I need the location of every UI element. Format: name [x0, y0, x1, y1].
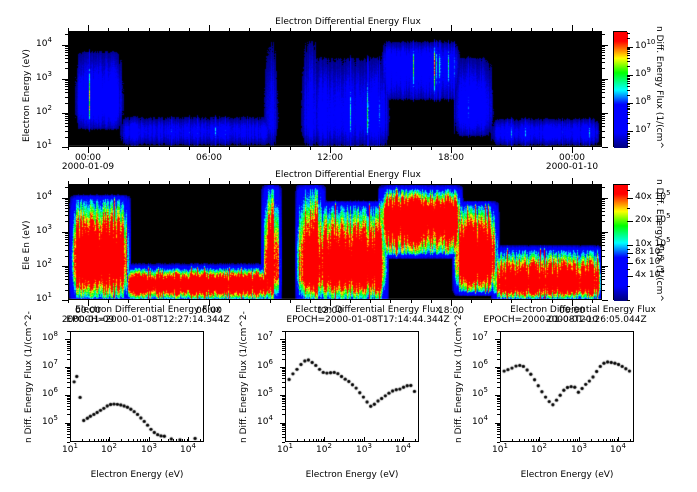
top-ytick-minor-r — [602, 46, 605, 47]
s2-ytick-minor — [282, 434, 285, 435]
s2-ytick-minor — [282, 431, 285, 432]
mid-xtick — [108, 300, 109, 303]
top-xtick-top — [189, 28, 190, 31]
mid-ytick-minor — [65, 211, 68, 212]
s1-xtick-minor — [89, 439, 90, 442]
top-cbtick-minor — [627, 53, 630, 54]
top-ytick-minor-r — [602, 55, 605, 56]
s1-ytick-label-1: 107 — [42, 361, 58, 371]
s3-xtick-minor — [567, 439, 568, 442]
s3-xtick-0 — [500, 437, 501, 442]
mid-ytick-minor — [65, 201, 68, 202]
top-cbtick-minor — [627, 104, 630, 105]
s1-xtick-minor — [133, 439, 134, 442]
s1-xtick-minor — [187, 439, 188, 442]
s3-ytick-minor — [497, 429, 500, 430]
s1-ytick-minor — [67, 346, 70, 347]
mid-cbtick-label-0: 40x 105 — [635, 192, 671, 202]
s1-xtick-minor — [82, 439, 83, 442]
s2-xtick-minor — [313, 439, 314, 442]
s1-xtick-minor — [101, 439, 102, 442]
s3-xtick-2 — [579, 437, 580, 442]
s3-xtick-minor — [538, 439, 539, 442]
s3-ytick-minor — [497, 350, 500, 351]
top-ytick-minor-r — [602, 92, 605, 93]
s3-ytick-0 — [495, 339, 500, 340]
s3-ytick-minor — [497, 378, 500, 379]
s3-xtick-minor — [519, 439, 520, 442]
s1-xtick-minor — [180, 439, 181, 442]
spectrum3-xlabel: Electron Energy (eV) — [497, 470, 637, 480]
s2-ytick-minor — [282, 396, 285, 397]
top-cbtick-label-3: 107 — [635, 125, 651, 135]
s3-xtick-minor — [614, 439, 615, 442]
s2-xtick-minor — [388, 439, 389, 442]
s2-xtick-minor — [391, 439, 392, 442]
mid-xtick — [270, 300, 271, 303]
mid-xtick — [310, 300, 311, 303]
top-xtick — [169, 147, 170, 150]
s2-xtick-3 — [403, 437, 404, 442]
mid-ytick-minor-r — [602, 273, 605, 274]
top-xtick — [491, 147, 492, 150]
mid-xtick — [491, 300, 492, 303]
top-xtick-top — [249, 28, 250, 31]
s2-xtick-minor — [343, 439, 344, 442]
s3-ytick-minor — [497, 348, 500, 349]
s2-ytick-0 — [280, 339, 285, 340]
mid-ytick-minor — [65, 239, 68, 240]
s2-ytick-minor — [282, 370, 285, 371]
mid-xtick-top — [290, 181, 291, 184]
top-xtick — [411, 147, 412, 150]
top-xdate-left: 2000-01-09 — [60, 162, 116, 172]
s2-xtick-minor — [415, 439, 416, 442]
top-cbtick-minor — [627, 118, 630, 119]
top-cbtick-minor — [627, 55, 630, 56]
s2-ytick-minor — [282, 406, 285, 407]
top-cbtick-minor — [627, 114, 630, 115]
s3-ytick-minor — [497, 354, 500, 355]
mid-ytick-minor-r — [602, 239, 605, 240]
top-ytick-label-3: 101 — [36, 141, 52, 151]
top-ytick-label-0: 104 — [36, 39, 52, 49]
s2-ytick-minor — [282, 368, 285, 369]
mid-cbtick-minor — [627, 269, 630, 270]
top-xtick — [128, 147, 129, 150]
s2-ytick-minor — [282, 359, 285, 360]
top-ytick-minor — [65, 68, 68, 69]
mid-cbtick-minor — [627, 263, 630, 264]
s3-ytick-minor — [497, 434, 500, 435]
top-xtick-top — [330, 25, 331, 31]
s3-ytick-label-0: 107 — [472, 333, 488, 343]
mid-xtick-top — [572, 178, 573, 184]
mid-ytick-minor-r — [602, 267, 605, 268]
mid-xtick — [229, 300, 230, 303]
s1-xtick-label-0: 101 — [57, 445, 83, 455]
s1-xtick-minor — [145, 439, 146, 442]
mid-ytick-minor — [65, 215, 68, 216]
mid-ytick-label-0: 104 — [36, 192, 52, 202]
s2-ytick-minor — [282, 342, 285, 343]
top-ytick-minor-r — [602, 82, 605, 83]
s2-xtick-minor — [402, 439, 403, 442]
top-xtick — [310, 147, 311, 150]
s1-xtick-minor — [121, 439, 122, 442]
s3-xtick-label-3: 104 — [605, 445, 631, 455]
s2-xtick-minor — [348, 439, 349, 442]
mid-xtick-top — [451, 178, 452, 184]
top-ytick-minor — [65, 48, 68, 49]
mid-ytick-minor — [65, 290, 68, 291]
s3-ytick-label-3: 104 — [472, 417, 488, 427]
s1-ytick-minor — [67, 348, 70, 349]
s1-xtick-minor — [98, 439, 99, 442]
mid-ytick-minor — [65, 187, 68, 188]
mid-ytick-major-r-3 — [602, 300, 608, 301]
mid-cbtick-minor — [627, 276, 630, 277]
s3-xtick-minor — [573, 439, 574, 442]
top-xtick-top — [411, 28, 412, 31]
top-ytick-minor-r — [602, 89, 605, 90]
mid-ytick-minor — [65, 269, 68, 270]
s1-xtick-minor — [147, 439, 148, 442]
s1-ytick-minor — [67, 427, 70, 428]
s3-ytick-minor — [497, 368, 500, 369]
top-ytick-minor — [65, 92, 68, 93]
s3-xtick-minor — [531, 439, 532, 442]
s3-ytick-minor — [497, 401, 500, 402]
s3-xtick-minor — [630, 439, 631, 442]
mid-xtick-top — [128, 181, 129, 184]
s3-xtick-minor — [558, 439, 559, 442]
s2-ytick-minor — [282, 373, 285, 374]
mid-ytick-minor-r — [602, 211, 605, 212]
s2-ytick-minor — [282, 371, 285, 372]
top-xtick-top — [370, 28, 371, 31]
s1-ytick-minor — [67, 344, 70, 345]
mid-ytick-minor-r — [602, 233, 605, 234]
mid-ytick-minor-r — [602, 279, 605, 280]
s3-ytick-minor — [497, 406, 500, 407]
s3-xtick-minor — [603, 439, 604, 442]
top-ytick-minor — [65, 89, 68, 90]
top-xtick-top — [592, 28, 593, 31]
s2-ytick-minor — [282, 425, 285, 426]
s1-ytick-minor — [67, 382, 70, 383]
s3-ytick-minor — [497, 396, 500, 397]
s1-ytick-minor — [67, 414, 70, 415]
top-ytick-minor-r — [602, 48, 605, 49]
spectrum2-subtitle: EPOCH=2000-01-08T17:14:44.344Z — [258, 315, 478, 325]
s1-ytick-minor — [67, 434, 70, 435]
spectrum1-plot — [70, 331, 204, 442]
mid-xtick — [149, 300, 150, 303]
top-xtick-top — [149, 28, 150, 31]
s3-xtick-label-0: 101 — [487, 445, 513, 455]
s2-xtick-minor — [304, 439, 305, 442]
top-ytick-label-1: 103 — [36, 73, 52, 83]
top-ytick-minor — [65, 103, 68, 104]
s3-ytick-minor — [497, 399, 500, 400]
s3-ytick-minor — [497, 331, 500, 332]
mid-cbtick-label-1: 20x 105 — [635, 215, 671, 225]
s2-xtick-minor — [297, 439, 298, 442]
mid-xtick-top — [229, 181, 230, 184]
top-ytick-minor — [65, 137, 68, 138]
s1-xtick-minor — [173, 439, 174, 442]
s2-ytick-minor — [282, 429, 285, 430]
s1-xtick-minor — [200, 439, 201, 442]
top-ytick-minor-r — [602, 80, 605, 81]
s1-ytick-minor — [67, 342, 70, 343]
s3-xtick-minor — [617, 439, 618, 442]
top-xtick-top — [471, 28, 472, 31]
s3-ytick-minor — [497, 387, 500, 388]
mid-cbtick-2 — [627, 245, 633, 246]
s1-xtick-label-2: 103 — [136, 445, 162, 455]
top-cbtick-minor — [627, 66, 630, 67]
s1-ytick-minor — [67, 398, 70, 399]
mid-ytick-minor — [65, 276, 68, 277]
top-xtick-top — [552, 28, 553, 31]
mid-xtick-label-3: 18:00 — [434, 306, 468, 316]
mid-colorbar — [613, 184, 627, 300]
s2-xtick-minor — [399, 439, 400, 442]
s1-xtick-minor — [103, 439, 104, 442]
s2-ytick-minor — [282, 442, 285, 443]
mid-ytick-minor — [65, 203, 68, 204]
top-ytick-minor — [65, 116, 68, 117]
s3-ytick-minor — [497, 414, 500, 415]
s2-xtick-minor — [360, 439, 361, 442]
s1-xtick-label-3: 104 — [175, 445, 201, 455]
top-ytick-minor — [65, 123, 68, 124]
s1-xtick-minor — [176, 439, 177, 442]
top-xtick — [471, 147, 472, 150]
top-ytick-minor — [65, 58, 68, 59]
mid-ytick-label-3: 101 — [36, 294, 52, 304]
mid-xtick-top — [169, 181, 170, 184]
top-ylabel: Electron Energy (eV) — [22, 49, 32, 142]
s2-xtick-minor — [355, 439, 356, 442]
mid-ytick-minor — [65, 273, 68, 274]
top-cbtick-minor — [627, 61, 630, 62]
top-xtick — [189, 147, 190, 150]
top-ytick-minor — [65, 46, 68, 47]
top-xtick-top — [310, 28, 311, 31]
top-ytick-minor-r — [602, 131, 605, 132]
s3-xtick-minor — [563, 439, 564, 442]
top-xtick — [370, 147, 371, 150]
s1-ytick-minor — [67, 354, 70, 355]
top-ytick-minor — [65, 126, 68, 127]
top-cbtick-minor — [627, 136, 630, 137]
s1-ytick-minor — [67, 373, 70, 374]
top-xtick — [229, 147, 230, 150]
s2-xtick-minor — [318, 439, 319, 442]
top-xtick-top — [451, 25, 452, 31]
mid-cbtick-minor — [627, 286, 630, 287]
top-ytick-minor-r — [602, 120, 605, 121]
mid-ytick-minor — [65, 208, 68, 209]
s1-xtick-minor — [106, 439, 107, 442]
s2-xtick-minor — [309, 439, 310, 442]
s1-ytick-minor — [67, 341, 70, 342]
top-xtick-top — [572, 25, 573, 31]
spectrum2-plot — [285, 331, 419, 442]
panel-top-title: Electron Differential Energy Flux — [188, 17, 508, 27]
s1-ytick-minor — [67, 406, 70, 407]
s2-ytick-minor — [282, 375, 285, 376]
spectrum1-xlabel: Electron Energy (eV) — [67, 470, 207, 480]
spectrum3-plot — [500, 331, 634, 442]
s3-xtick-label-2: 103 — [566, 445, 592, 455]
s2-xtick-2 — [364, 437, 365, 442]
top-ytick-minor-r — [602, 126, 605, 127]
top-cbtick-minor — [627, 123, 630, 124]
mid-ytick-minor-r — [602, 242, 605, 243]
s1-ytick-label-2: 106 — [42, 389, 58, 399]
mid-ytick-minor-r — [602, 271, 605, 272]
top-cbtick-minor — [627, 76, 630, 77]
top-cbtick-minor — [627, 78, 630, 79]
s1-ytick-minor — [67, 368, 70, 369]
s2-xtick-minor — [397, 439, 398, 442]
top-ytick-minor-r — [602, 34, 605, 35]
top-xtick — [68, 147, 69, 150]
s3-ytick-minor — [497, 373, 500, 374]
s3-xtick-minor — [570, 439, 571, 442]
top-xtick — [270, 147, 271, 150]
mid-xtick-top — [552, 181, 553, 184]
top-xtick — [249, 147, 250, 150]
mid-ytick-minor — [65, 279, 68, 280]
s1-ytick-minor — [67, 399, 70, 400]
s1-xtick-minor — [140, 439, 141, 442]
top-xtick-top — [108, 28, 109, 31]
mid-ytick-minor-r — [602, 237, 605, 238]
s1-ytick-minor — [67, 429, 70, 430]
s1-ytick-minor — [67, 442, 70, 443]
mid-xtick-top — [431, 181, 432, 184]
mid-xtick — [411, 300, 412, 303]
s3-xtick-1 — [539, 437, 540, 442]
s3-ytick-minor — [497, 425, 500, 426]
top-ytick-minor — [65, 131, 68, 132]
s1-ytick-0 — [65, 339, 70, 340]
top-ytick-minor-r — [602, 68, 605, 69]
s2-ytick-minor — [282, 344, 285, 345]
s1-ytick-minor — [67, 387, 70, 388]
s3-ytick-minor — [497, 431, 500, 432]
mid-xtick-top — [491, 181, 492, 184]
s2-xtick-minor — [376, 439, 377, 442]
top-colorbar — [613, 31, 627, 147]
top-ytick-minor — [65, 120, 68, 121]
mid-xtick — [592, 300, 593, 303]
top-ytick-label-2: 102 — [36, 107, 52, 117]
s2-xtick-minor — [362, 439, 363, 442]
s1-xtick-minor — [143, 439, 144, 442]
mid-ytick-minor-r — [602, 208, 605, 209]
s3-xtick-minor — [536, 439, 537, 442]
top-xtick-label-2: 12:00 — [313, 153, 347, 163]
mid-xtick-top — [592, 181, 593, 184]
s1-ytick-minor — [67, 424, 70, 425]
top-cbtick-minor — [627, 146, 630, 147]
s2-ytick-label-2: 105 — [257, 389, 273, 399]
s2-xtick-minor — [336, 439, 337, 442]
s1-xtick-minor — [168, 439, 169, 442]
top-cbtick-minor — [627, 112, 630, 113]
mid-cbtick-minor — [627, 249, 630, 250]
top-ytick-minor-r — [602, 58, 605, 59]
s2-ytick-minor — [282, 414, 285, 415]
mid-spectrogram-plot — [68, 184, 602, 300]
mid-xtick — [128, 300, 129, 303]
mid-ytick-minor — [65, 256, 68, 257]
mid-xtick-label-2: 12:00 — [313, 306, 347, 316]
s3-ytick-label-1: 106 — [472, 361, 488, 371]
s3-ytick-minor — [497, 346, 500, 347]
s2-ytick-minor — [282, 399, 285, 400]
s1-xtick-minor — [108, 439, 109, 442]
top-cbtick-minor — [627, 86, 630, 87]
top-xtick-label-1: 06:00 — [192, 153, 226, 163]
s2-ytick-minor — [282, 341, 285, 342]
mid-xtick-top — [189, 181, 190, 184]
mid-xtick-top — [531, 181, 532, 184]
top-ytick-minor — [65, 55, 68, 56]
mid-ytick-minor — [65, 242, 68, 243]
mid-ytick-minor-r — [602, 221, 605, 222]
mid-xtick — [531, 300, 532, 303]
mid-xtick — [511, 300, 512, 303]
s2-xtick-label-2: 103 — [351, 445, 377, 455]
top-xtick-top — [491, 28, 492, 31]
mid-ytick-minor-r — [602, 256, 605, 257]
top-ytick-minor — [65, 82, 68, 83]
top-ytick-minor-r — [602, 62, 605, 63]
s1-ytick-minor — [67, 359, 70, 360]
s1-ytick-minor — [67, 431, 70, 432]
s1-xtick-minor — [94, 439, 95, 442]
mid-xtick-top — [471, 181, 472, 184]
s3-xtick-label-1: 102 — [526, 445, 552, 455]
top-ytick-minor — [65, 62, 68, 63]
spectrum2-xlabel: Electron Energy (eV) — [282, 470, 422, 480]
s1-xtick-minor — [128, 439, 129, 442]
top-ytick-minor — [65, 97, 68, 98]
top-xtick-top — [431, 28, 432, 31]
mid-ytick-minor — [65, 237, 68, 238]
top-ytick-minor-r — [602, 118, 605, 119]
s2-ytick-minor — [282, 382, 285, 383]
s3-ytick-minor — [497, 342, 500, 343]
mid-xtick — [552, 300, 553, 303]
s3-xtick-minor — [533, 439, 534, 442]
mid-xtick-top — [411, 181, 412, 184]
mid-xtick — [471, 300, 472, 303]
mid-ytick-minor-r — [602, 187, 605, 188]
top-xtick-top — [68, 28, 69, 31]
s1-xtick-label-1: 102 — [96, 445, 122, 455]
spectrum1-ylabel: n Diff. Energy Flux (1/(cm^2- — [24, 311, 34, 443]
top-xtick — [531, 147, 532, 150]
mid-xtick — [249, 300, 250, 303]
